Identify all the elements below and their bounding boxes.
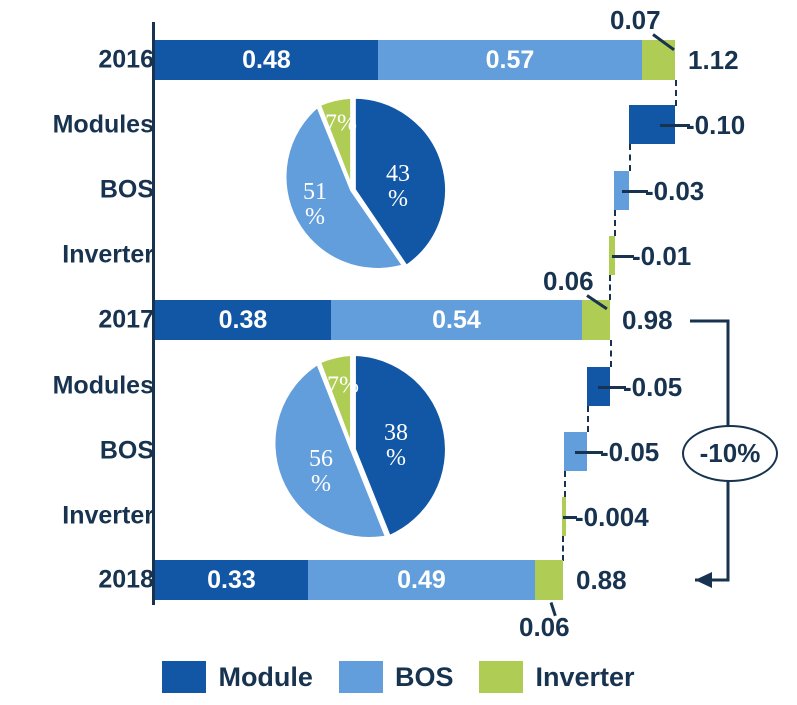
legend-swatch-inverter [479,661,523,693]
leader-line-bos-2 [575,451,603,454]
category-label-inverter-2: Inverter [0,504,154,529]
bar-segment-bos-2016: 0.57 [378,40,642,80]
category-label-2018: 2018 [0,568,154,593]
bar-segment-module-2017: 0.38 [155,300,331,340]
bar-segment-module-2016: 0.48 [155,40,378,80]
category-label-bos-2: BOS [0,439,154,464]
bar-segment-inverter-2018 [535,560,563,600]
stacked-bar-2017: 0.38 0.54 [155,300,610,340]
connector-8 [562,536,564,561]
pie-chart-2016: 43 % 51 % 7% [253,95,453,285]
connector-3 [614,210,616,236]
pie-label-module-2018: 38 % [384,421,408,471]
legend-swatch-bos [339,661,383,693]
legend-item-module: Module [162,661,313,693]
legend-item-bos: BOS [339,661,454,693]
value-label-modules-1: -0.10 [686,112,745,138]
connector-7 [564,471,566,497]
bar-segment-bos-2018: 0.49 [308,560,535,600]
category-label-modules-1: Modules [0,113,154,138]
connector-2 [629,144,631,171]
stacked-bar-2016: 0.48 0.57 [155,40,675,80]
value-label-inverter-delta-2: -0.004 [575,504,649,530]
legend-label-bos: BOS [395,664,454,691]
category-label-inverter-1: Inverter [0,243,154,268]
legend-swatch-module [162,661,206,693]
connector-1 [675,80,677,106]
bar-segment-bos-2017: 0.54 [331,300,582,340]
legend-item-inverter: Inverter [479,661,634,693]
category-label-bos-1: BOS [0,178,154,203]
value-label-inverter-2016: 0.07 [610,7,661,33]
value-label-bos-2: -0.05 [600,439,659,465]
legend-label-inverter: Inverter [535,664,634,691]
category-label-2016: 2016 [0,48,154,73]
bar-segment-module-2018: 0.33 [155,560,308,600]
value-label-total-2016: 1.12 [688,47,739,73]
connector-5 [610,340,612,367]
stacked-bar-2018: 0.33 0.49 [155,560,563,600]
pie-chart-2018: 38 % 56 % 7% [253,352,453,547]
legend-label-module: Module [218,664,313,691]
category-label-modules-2: Modules [0,374,154,399]
value-label-inverter-2017: 0.06 [543,268,594,294]
value-label-total-2018: 0.88 [576,567,627,593]
connector-6 [587,406,589,432]
leader-line-modules-2 [598,386,626,389]
pie-label-module-2016: 43 % [386,162,410,212]
leader-line-inverter-1 [612,255,634,258]
category-label-2017: 2017 [0,308,154,333]
connector-4 [609,275,611,300]
pie-label-inverter-2016: 7% [325,111,357,136]
waterfall-chart: 2016 Modules BOS Inverter 2017 Modules B… [0,0,797,705]
pie-label-bos-2016: 51 % [303,180,327,230]
pie-label-inverter-2018: 7% [327,373,359,398]
pie-label-bos-2018: 56 % [309,447,333,497]
value-label-inverter-delta-1: -0.01 [632,243,691,269]
legend: Module BOS Inverter [0,661,797,693]
value-label-inverter-2018: 0.06 [519,614,570,640]
change-percent-badge: -10% [682,425,778,482]
value-label-bos-1: -0.03 [645,178,704,204]
